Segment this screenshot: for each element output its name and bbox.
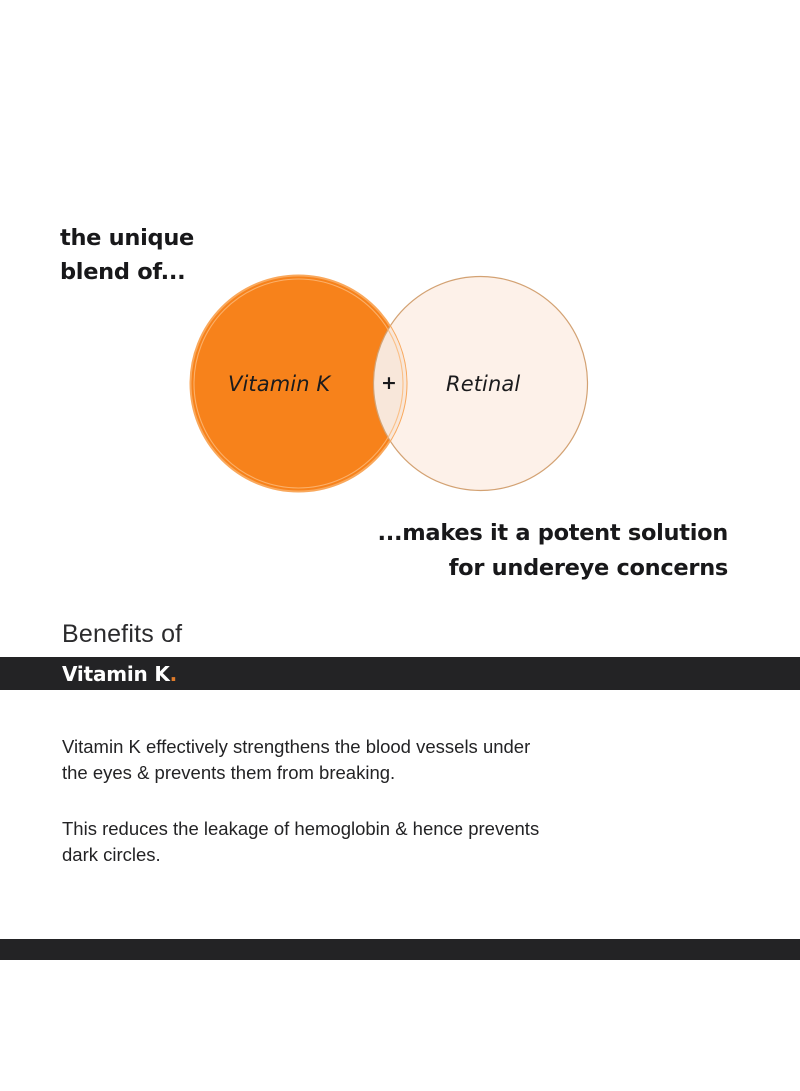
venn-plus-icon: + [381, 372, 397, 394]
benefits-title-bar: Vitamin K. [0, 657, 800, 690]
venn-label-retinal: Retinal [446, 372, 520, 396]
product-infographic-page: { "headline": { "blend_intro": "the uniq… [0, 0, 800, 1091]
benefits-eyebrow-label: Benefits of [62, 620, 182, 649]
benefits-title-accent-period: . [170, 662, 178, 686]
venn-label-vitamin-k: Vitamin K [228, 372, 330, 396]
blend-headline: the unique blend of... [60, 222, 194, 290]
footer-divider [0, 939, 800, 960]
venn-circle-vitamin-k [191, 276, 407, 492]
benefit-paragraph: Vitamin K effectively strengthens the bl… [62, 734, 687, 787]
venn-circle-retinal [374, 277, 588, 491]
benefit-paragraph: This reduces the leakage of hemoglobin &… [62, 816, 687, 869]
venn-overlap-region [374, 277, 588, 491]
benefits-title: Vitamin K [62, 662, 170, 686]
potent-solution-statement: ...makes it a potent solution for undere… [378, 516, 728, 586]
venn-circle-vitamin-k-inner-ring [194, 279, 403, 488]
